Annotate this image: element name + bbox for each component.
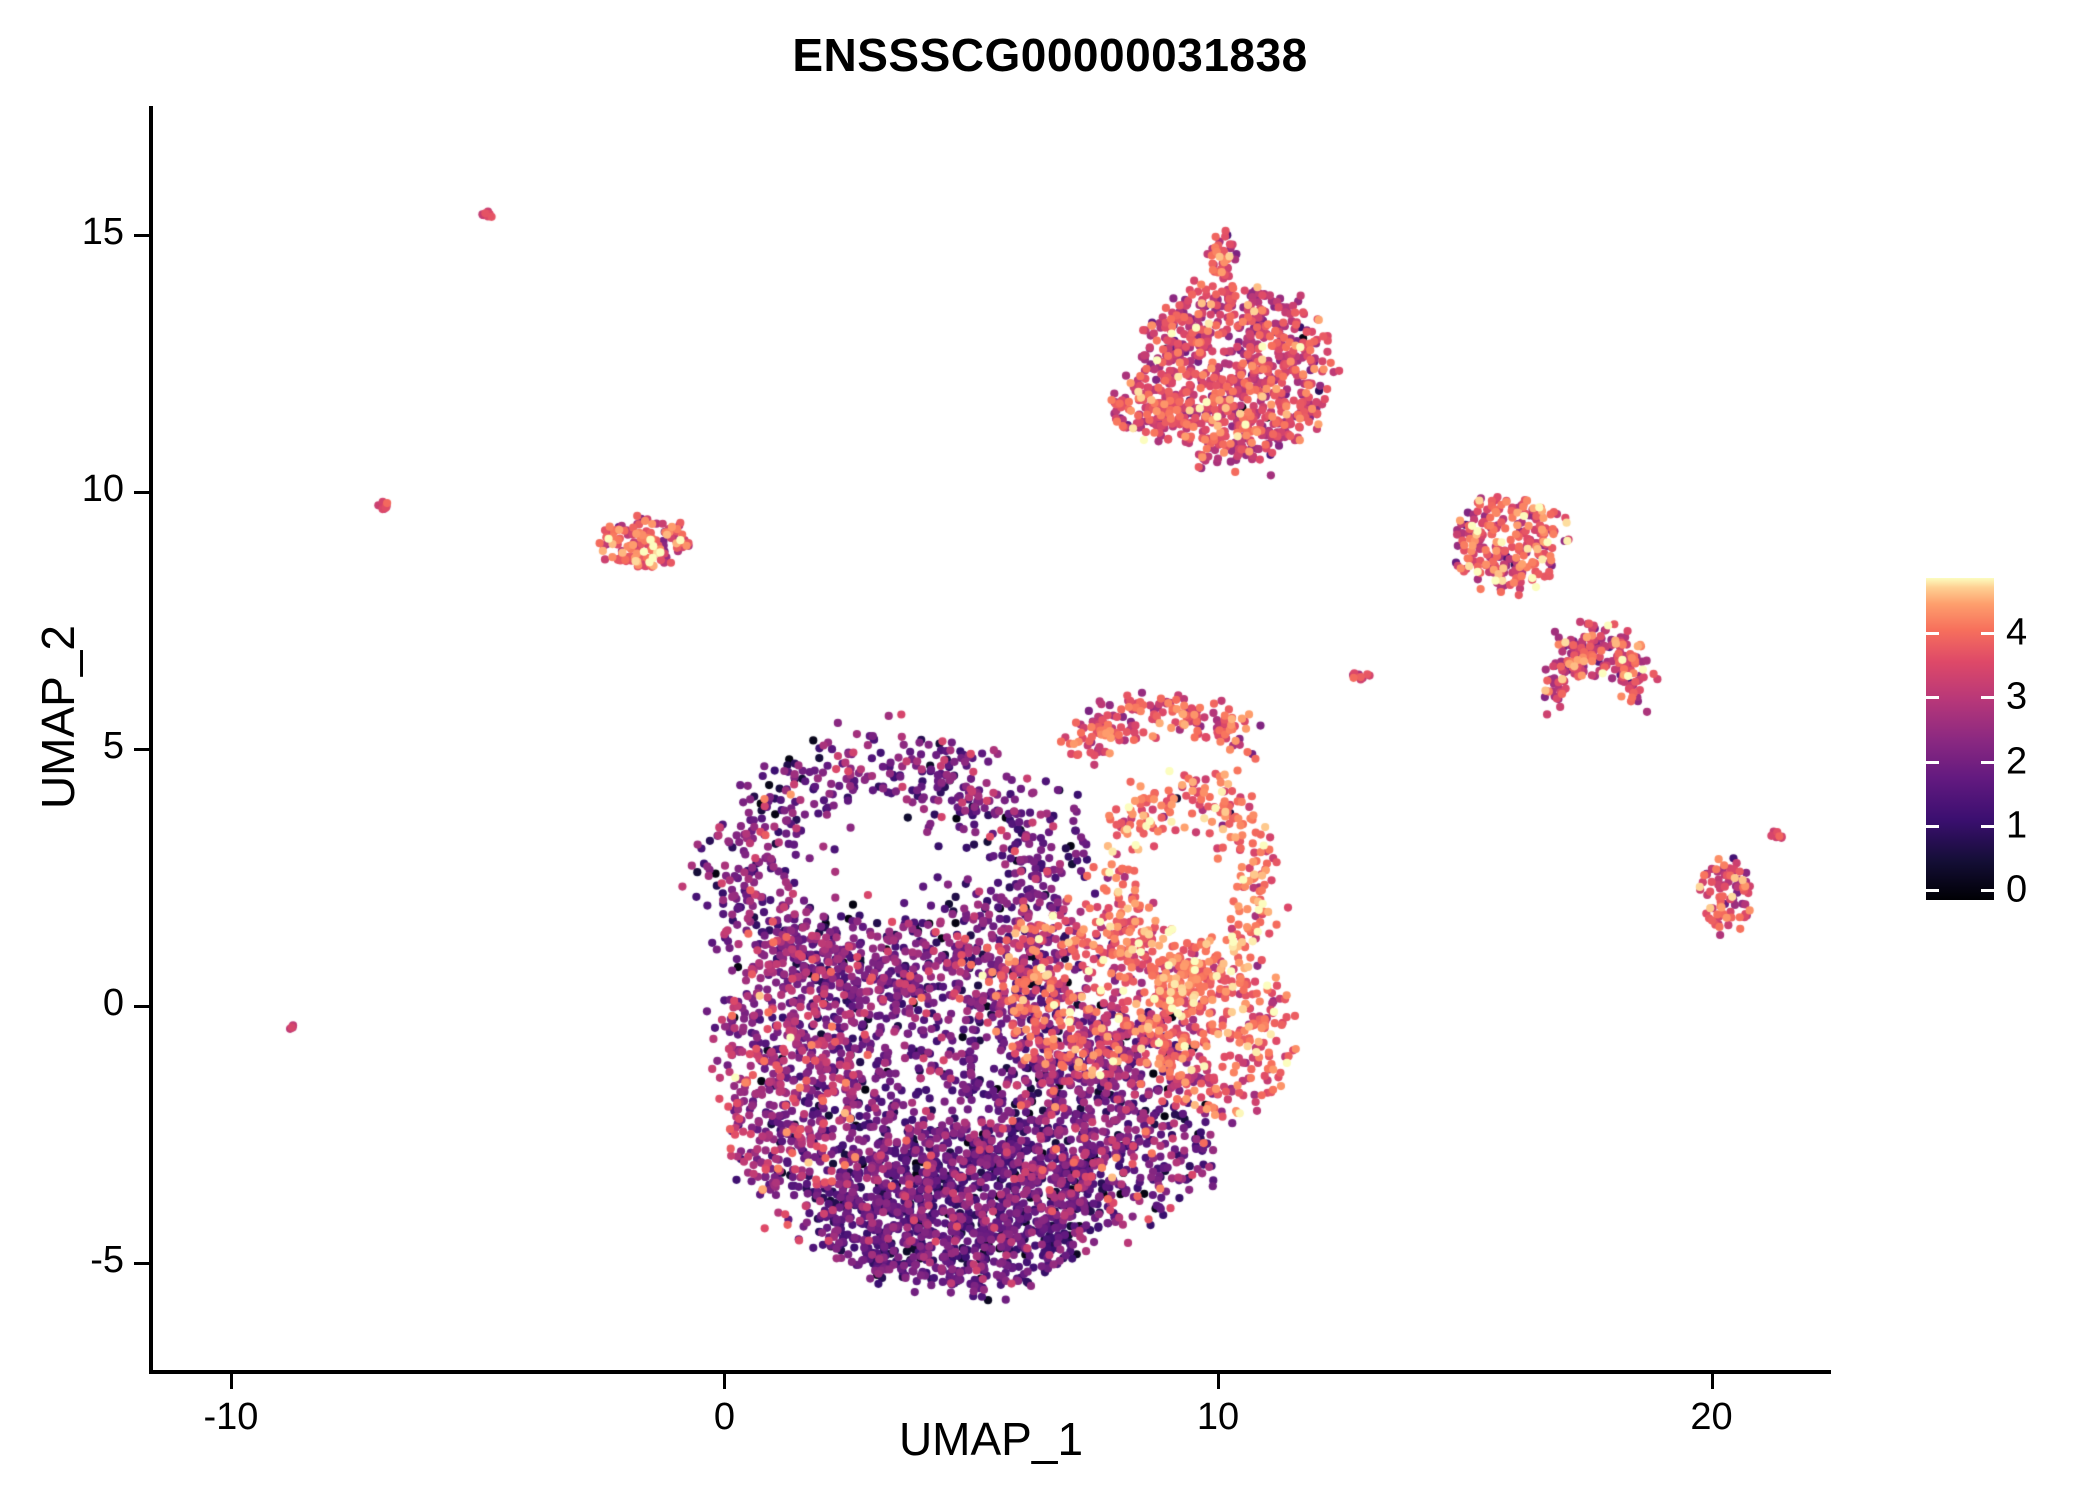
y-tick-label: -5 xyxy=(0,1239,124,1282)
y-axis-line xyxy=(149,106,153,1374)
legend-tick-label: 1 xyxy=(2006,804,2027,847)
y-axis-label: UMAP_2 xyxy=(31,397,85,1037)
legend-tick-mark xyxy=(1926,825,1939,828)
color-legend-gradient-bar xyxy=(1926,578,1994,900)
legend-tick-mark xyxy=(1981,761,1994,764)
x-tick-mark xyxy=(1711,1374,1714,1389)
x-axis-label: UMAP_1 xyxy=(152,1412,1830,1466)
color-legend: 01234 xyxy=(1926,578,1994,900)
legend-tick-mark xyxy=(1981,825,1994,828)
legend-tick-mark xyxy=(1926,696,1939,699)
y-tick-mark xyxy=(134,491,149,494)
figure-root: ENSSSCG00000031838 -5051015 -1001020 UMA… xyxy=(0,0,2100,1500)
x-axis-line xyxy=(149,1370,1831,1374)
x-tick-mark xyxy=(230,1374,233,1389)
y-tick-label: 15 xyxy=(0,211,124,254)
legend-tick-mark xyxy=(1981,632,1994,635)
legend-tick-mark xyxy=(1981,696,1994,699)
legend-tick-label: 2 xyxy=(2006,740,2027,783)
x-tick-mark xyxy=(723,1374,726,1389)
legend-tick-label: 0 xyxy=(2006,869,2027,912)
legend-tick-label: 3 xyxy=(2006,676,2027,719)
legend-tick-mark xyxy=(1926,761,1939,764)
page-title: ENSSSCG00000031838 xyxy=(0,28,2100,82)
legend-tick-mark xyxy=(1926,889,1939,892)
legend-tick-label: 4 xyxy=(2006,611,2027,654)
y-tick-mark xyxy=(134,234,149,237)
legend-tick-mark xyxy=(1926,632,1939,635)
y-tick-mark xyxy=(134,1005,149,1008)
x-tick-mark xyxy=(1217,1374,1220,1389)
legend-tick-mark xyxy=(1981,889,1994,892)
scatter-canvas xyxy=(152,106,1830,1371)
y-tick-mark xyxy=(134,748,149,751)
y-tick-mark xyxy=(134,1262,149,1265)
plot-panel xyxy=(152,106,1830,1371)
